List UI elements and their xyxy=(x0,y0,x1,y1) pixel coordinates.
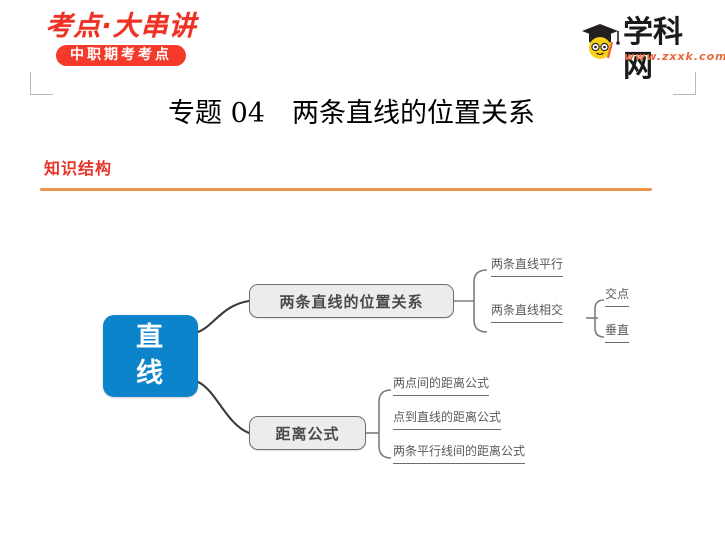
brand-title: 考点·大串讲 xyxy=(36,12,206,42)
mindmap-branch-distance-formula[interactable]: 距离公式 xyxy=(249,416,366,450)
knowledge-structure-mindmap: 直 线 两条直线的位置关系 距离公式 两条直线平行 两条直线相交 交点 垂直 两… xyxy=(0,210,725,500)
zxxk-url: www.zxxk.com xyxy=(624,50,725,63)
mindmap-branch-label: 距离公式 xyxy=(275,423,339,444)
mindmap-root-node[interactable]: 直 线 xyxy=(103,315,198,397)
mindmap-branch-position-relation[interactable]: 两条直线的位置关系 xyxy=(249,284,454,318)
brand-badge-left: 考点·大串讲 中职期考考点 xyxy=(36,12,206,74)
brand-subtitle-pill: 中职期考考点 xyxy=(56,45,186,66)
mindmap-leaf-parallel-lines[interactable]: 两条直线平行 xyxy=(491,256,563,277)
zxxk-logo: 学科网 www.zxxk.com xyxy=(579,14,707,70)
mindmap-leaf-intersection-point[interactable]: 交点 xyxy=(605,286,629,307)
mindmap-branch-label: 两条直线的位置关系 xyxy=(279,291,423,312)
section-heading: 知识结构 xyxy=(44,158,112,180)
mindmap-leaf-distance-between-two-points[interactable]: 两点间的距离公式 xyxy=(393,375,489,396)
mindmap-leaf-distance-point-to-line[interactable]: 点到直线的距离公式 xyxy=(393,409,501,430)
mindmap-leaf-perpendicular[interactable]: 垂直 xyxy=(605,322,629,343)
section-divider xyxy=(40,188,652,191)
mindmap-leaf-intersecting-lines[interactable]: 两条直线相交 xyxy=(491,302,563,323)
crop-mark-top-left xyxy=(30,72,53,95)
page-title: 专题 04 两条直线的位置关系 xyxy=(168,96,535,132)
mindmap-leaf-distance-between-parallel-lines[interactable]: 两条平行线间的距离公式 xyxy=(393,443,525,464)
graduate-mascot-icon xyxy=(579,18,621,64)
mindmap-root-label: 直 线 xyxy=(136,320,165,392)
